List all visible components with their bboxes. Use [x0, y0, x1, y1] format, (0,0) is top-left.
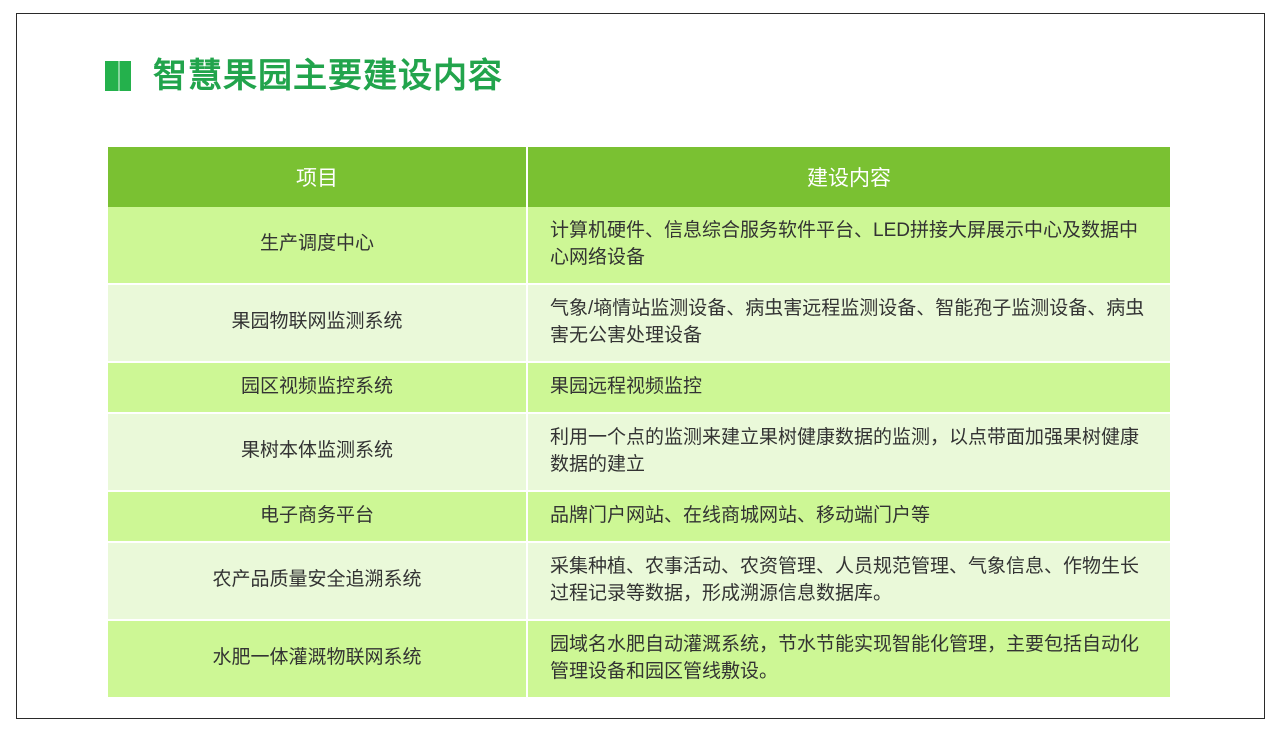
cell-item: 生产调度中心: [108, 207, 528, 285]
page-title: 智慧果园主要建设内容: [153, 59, 503, 93]
table-row: 生产调度中心计算机硬件、信息综合服务软件平台、LED拼接大屏展示中心及数据中心网…: [108, 207, 1170, 285]
square-bullet-icon: [105, 61, 131, 91]
cell-content: 利用一个点的监测来建立果树健康数据的监测，以点带面加强果树健康数据的建立: [528, 414, 1170, 492]
table-row: 水肥一体灌溉物联网系统园域名水肥自动灌溉系统，节水节能实现智能化管理，主要包括自…: [108, 621, 1170, 697]
table-header: 项目 建设内容: [108, 147, 1170, 207]
cell-item: 园区视频监控系统: [108, 363, 528, 414]
table-row: 园区视频监控系统果园远程视频监控: [108, 363, 1170, 414]
cell-content: 果园远程视频监控: [528, 363, 1170, 414]
slide-title-row: 智慧果园主要建设内容: [105, 59, 503, 93]
cell-content: 园域名水肥自动灌溉系统，节水节能实现智能化管理，主要包括自动化管理设备和园区管线…: [528, 621, 1170, 697]
table-body: 生产调度中心计算机硬件、信息综合服务软件平台、LED拼接大屏展示中心及数据中心网…: [108, 207, 1170, 697]
table-row: 果园物联网监测系统气象/墒情站监测设备、病虫害远程监测设备、智能孢子监测设备、病…: [108, 285, 1170, 363]
cell-item: 果园物联网监测系统: [108, 285, 528, 363]
column-header-item: 项目: [108, 147, 528, 207]
slide-frame: 智慧果园主要建设内容 项目 建设内容 生产调度中心计算机硬件、信息综合服务软件平…: [16, 13, 1265, 719]
table-header-row: 项目 建设内容: [108, 147, 1170, 207]
cell-item: 电子商务平台: [108, 492, 528, 543]
table-row: 果树本体监测系统利用一个点的监测来建立果树健康数据的监测，以点带面加强果树健康数…: [108, 414, 1170, 492]
cell-item: 果树本体监测系统: [108, 414, 528, 492]
cell-content: 采集种植、农事活动、农资管理、人员规范管理、气象信息、作物生长过程记录等数据，形…: [528, 543, 1170, 621]
cell-content: 品牌门户网站、在线商城网站、移动端门户等: [528, 492, 1170, 543]
cell-content: 气象/墒情站监测设备、病虫害远程监测设备、智能孢子监测设备、病虫害无公害处理设备: [528, 285, 1170, 363]
column-header-content: 建设内容: [528, 147, 1170, 207]
construction-content-table: 项目 建设内容 生产调度中心计算机硬件、信息综合服务软件平台、LED拼接大屏展示…: [108, 147, 1170, 697]
table-row: 农产品质量安全追溯系统采集种植、农事活动、农资管理、人员规范管理、气象信息、作物…: [108, 543, 1170, 621]
cell-content: 计算机硬件、信息综合服务软件平台、LED拼接大屏展示中心及数据中心网络设备: [528, 207, 1170, 285]
table-row: 电子商务平台品牌门户网站、在线商城网站、移动端门户等: [108, 492, 1170, 543]
cell-item: 水肥一体灌溉物联网系统: [108, 621, 528, 697]
cell-item: 农产品质量安全追溯系统: [108, 543, 528, 621]
